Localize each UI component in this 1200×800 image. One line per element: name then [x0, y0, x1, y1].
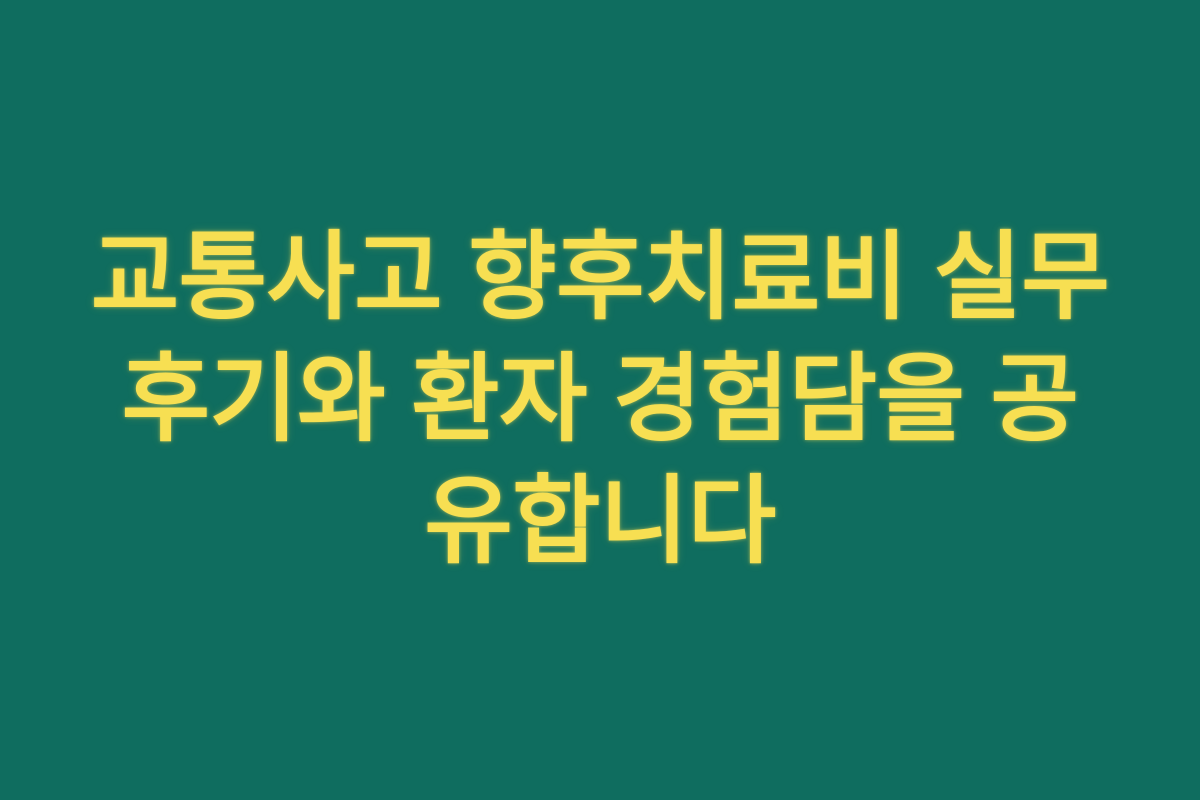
banner-headline: 교통사고 향후치료비 실무 후기와 환자 경험담을 공유합니다 — [85, 217, 1115, 583]
banner-canvas: 교통사고 향후치료비 실무 후기와 환자 경험담을 공유합니다 — [0, 0, 1200, 800]
